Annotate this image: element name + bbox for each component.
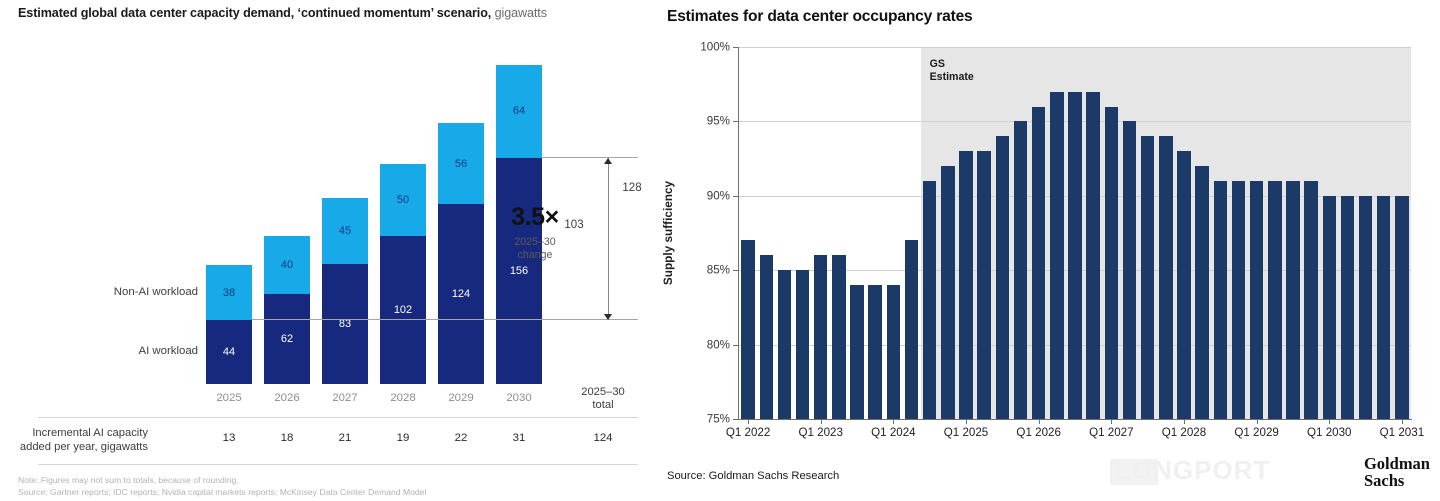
- occupancy-bar-Q1-2026: [1032, 107, 1045, 419]
- occupancy-bar-Q3-2028: [1214, 181, 1227, 419]
- x-axis-year-2030: 2030: [496, 392, 542, 404]
- x-axis-year-2026: 2026: [264, 392, 310, 404]
- y-tick-mark-85%: [733, 270, 739, 271]
- right-chart-source: Source: Goldman Sachs Research: [667, 470, 839, 482]
- x-tick-label-Q1-2023: Q1 2023: [798, 426, 842, 439]
- x-tick-label-Q1-2026: Q1 2026: [1016, 426, 1060, 439]
- occupancy-bar-Q3-2026: [1068, 92, 1081, 419]
- occupancy-bar-Q4-2024: [941, 166, 954, 419]
- occupancy-bar-Q4-2030: [1377, 196, 1390, 419]
- x-tick-label-Q1-2028: Q1 2028: [1162, 426, 1206, 439]
- x-tick-label-Q1-2024: Q1 2024: [871, 426, 915, 439]
- occupancy-bar-Q4-2028: [1232, 181, 1245, 419]
- right-chart-plot: Q1 2022Q1 2023Q1 2024Q1 2025Q1 2026Q1 20…: [739, 47, 1411, 419]
- occupancy-bar-Q2-2024: [905, 240, 918, 419]
- occupancy-bar-Q3-2025: [996, 136, 1009, 419]
- arrow-head-up: [604, 158, 612, 164]
- gs-estimate-label: GSEstimate: [930, 58, 974, 84]
- x-tick-mark-Q1-2031: [1402, 419, 1403, 424]
- occupancy-bar-Q2-2029: [1268, 181, 1281, 419]
- x-tick-mark-Q1-2029: [1257, 419, 1258, 424]
- left-chart-plot: 4438826240103834512810250153124561811566…: [18, 36, 638, 384]
- table-cell-2029: 22: [438, 432, 484, 444]
- arrow-shaft: [608, 158, 609, 320]
- left-chart-title-main: Estimated global data center capacity de…: [18, 6, 491, 20]
- bar-segment-non-ai: 50: [380, 164, 426, 237]
- right-chart-title: Estimates for data center occupancy rate…: [667, 8, 1407, 26]
- occupancy-bar-Q4-2022: [796, 270, 809, 419]
- occupancy-bar-Q1-2029: [1250, 181, 1263, 419]
- occupancy-bar-Q2-2022: [760, 255, 773, 419]
- x-tick-label-Q1-2031: Q1 2031: [1380, 426, 1424, 439]
- x-axis-line: [738, 419, 1412, 420]
- stacked-bar-2025: 4438: [206, 265, 252, 384]
- x-axis-year-2025: 2025: [206, 392, 252, 404]
- y-tick-mark-80%: [733, 345, 739, 346]
- gridline-100%: [739, 47, 1411, 48]
- x-tick-label-Q1-2029: Q1 2029: [1234, 426, 1278, 439]
- x-tick-mark-Q1-2024: [893, 419, 894, 424]
- x-tick-label-Q1-2022: Q1 2022: [726, 426, 770, 439]
- occupancy-bar-Q1-2027: [1105, 107, 1118, 419]
- occupancy-bar-Q1-2030: [1323, 196, 1336, 419]
- bar-segment-ai: 62: [264, 294, 310, 384]
- bar-segment-non-ai: 40: [264, 236, 310, 294]
- x-axis-year-2029: 2029: [438, 392, 484, 404]
- table-cell-2025: 13: [206, 432, 252, 444]
- figure-root: Estimated global data center capacity de…: [0, 0, 1440, 501]
- occupancy-bar-Q3-2030: [1359, 196, 1372, 419]
- footnote-source: Source: Gartner reports; IDC reports; Nv…: [18, 486, 618, 498]
- occupancy-bar-Q2-2026: [1050, 92, 1063, 419]
- bar-segment-non-ai: 56: [438, 123, 484, 204]
- reference-line-lower: [252, 319, 638, 320]
- occupancy-bar-Q1-2031: [1395, 196, 1408, 419]
- occupancy-bar-Q4-2027: [1159, 136, 1172, 419]
- table-rule-bottom: [38, 464, 638, 465]
- legend-label-ai: AI workload: [58, 345, 198, 357]
- table-cell-2027: 21: [322, 432, 368, 444]
- y-tick-label-90%: 90%: [707, 189, 730, 202]
- left-chart-footnotes: Note: Figures may not sum to totals, bec…: [18, 474, 618, 499]
- y-tick-mark-100%: [733, 47, 739, 48]
- y-tick-label-75%: 75%: [707, 413, 730, 426]
- y-tick-mark-95%: [733, 121, 739, 122]
- bar-segment-ai: 156: [496, 158, 542, 384]
- change-multiple-annotation: 3.5× 2025–30change: [470, 203, 600, 262]
- right-chart-y-axis-label: Supply sufficiency: [659, 47, 677, 419]
- y-tick-label-80%: 80%: [707, 338, 730, 351]
- watermark-text: LONGPORT: [1115, 455, 1270, 486]
- occupancy-bar-Q2-2023: [832, 255, 845, 419]
- table-cell-2026: 18: [264, 432, 310, 444]
- bar-segment-non-ai: 38: [206, 265, 252, 320]
- stacked-bar-2028: 10250: [380, 162, 426, 384]
- x-tick-mark-Q1-2026: [1039, 419, 1040, 424]
- occupancy-bar-Q1-2024: [887, 285, 900, 419]
- change-multiple-value: 3.5×: [470, 203, 600, 232]
- occupancy-bar-Q2-2027: [1123, 121, 1136, 419]
- change-arrow: [602, 158, 614, 320]
- footnote-note: Note: Figures may not sum to totals, bec…: [18, 474, 618, 486]
- occupancy-bar-Q4-2025: [1014, 121, 1027, 419]
- arrow-head-down: [604, 314, 612, 320]
- table-cell-2030: 31: [496, 432, 542, 444]
- bar-segment-non-ai: 64: [496, 65, 542, 158]
- occupancy-bar-Q1-2022: [741, 240, 754, 419]
- occupancy-bar-Q3-2029: [1286, 181, 1299, 419]
- left-chart-title-unit: gigawatts: [491, 6, 547, 20]
- x-tick-mark-Q1-2023: [821, 419, 822, 424]
- stacked-bar-2026: 6240: [264, 235, 310, 384]
- y-tick-mark-75%: [733, 419, 739, 420]
- occupancy-bar-Q4-2026: [1086, 92, 1099, 419]
- y-axis-label-text: Supply sufficiency: [661, 181, 675, 285]
- occupancy-bar-Q3-2027: [1141, 136, 1154, 419]
- logo-line-2: Sachs: [1364, 473, 1430, 490]
- occupancy-bar-Q3-2022: [778, 270, 791, 419]
- y-tick-label-95%: 95%: [707, 115, 730, 128]
- change-multiple-sublabel: 2025–30change: [470, 236, 600, 262]
- bar-segment-ai: 102: [380, 236, 426, 384]
- right-chart-panel: Estimates for data center occupancy rate…: [652, 0, 1440, 501]
- table-row-label: Incremental AI capacityadded per year, g…: [0, 426, 148, 454]
- x-tick-mark-Q1-2028: [1184, 419, 1185, 424]
- occupancy-bar-Q4-2029: [1304, 181, 1317, 419]
- y-axis-line: [738, 47, 739, 419]
- x-tick-mark-Q1-2030: [1329, 419, 1330, 424]
- occupancy-bar-Q1-2028: [1177, 151, 1190, 419]
- x-tick-label-Q1-2025: Q1 2025: [944, 426, 988, 439]
- occupancy-bar-Q3-2023: [850, 285, 863, 419]
- occupancy-bar-Q2-2028: [1195, 166, 1208, 419]
- total-column-header: 2025–30total: [560, 386, 646, 413]
- x-tick-mark-Q1-2022: [748, 419, 749, 424]
- legend-label-non-ai: Non-AI workload: [58, 286, 198, 298]
- table-cell-2028: 19: [380, 432, 426, 444]
- stacked-bar-2027: 8345: [322, 198, 368, 384]
- bar-segment-ai: 83: [322, 264, 368, 384]
- x-tick-mark-Q1-2027: [1111, 419, 1112, 424]
- table-rule-top: [38, 417, 638, 418]
- occupancy-bar-Q1-2023: [814, 255, 827, 419]
- table-cell-total: 124: [560, 432, 646, 444]
- occupancy-bar-Q4-2023: [868, 285, 881, 419]
- y-tick-mark-90%: [733, 196, 739, 197]
- x-axis-year-2027: 2027: [322, 392, 368, 404]
- bar-segment-non-ai: 45: [322, 198, 368, 263]
- goldman-sachs-logo: Goldman Sachs: [1364, 456, 1430, 490]
- y-tick-label-85%: 85%: [707, 264, 730, 277]
- x-tick-mark-Q1-2025: [966, 419, 967, 424]
- x-tick-label-Q1-2027: Q1 2027: [1089, 426, 1133, 439]
- bar-segment-ai: 44: [206, 320, 252, 384]
- occupancy-bar-Q3-2024: [923, 181, 936, 419]
- occupancy-bar-Q2-2030: [1341, 196, 1354, 419]
- left-chart-title: Estimated global data center capacity de…: [18, 6, 638, 20]
- left-chart-panel: Estimated global data center capacity de…: [0, 0, 652, 501]
- x-axis-year-2028: 2028: [380, 392, 426, 404]
- y-tick-label-100%: 100%: [700, 41, 730, 54]
- occupancy-bar-Q2-2025: [977, 151, 990, 419]
- occupancy-bar-Q1-2025: [959, 151, 972, 419]
- reference-line-upper: [542, 157, 638, 158]
- x-tick-label-Q1-2030: Q1 2030: [1307, 426, 1351, 439]
